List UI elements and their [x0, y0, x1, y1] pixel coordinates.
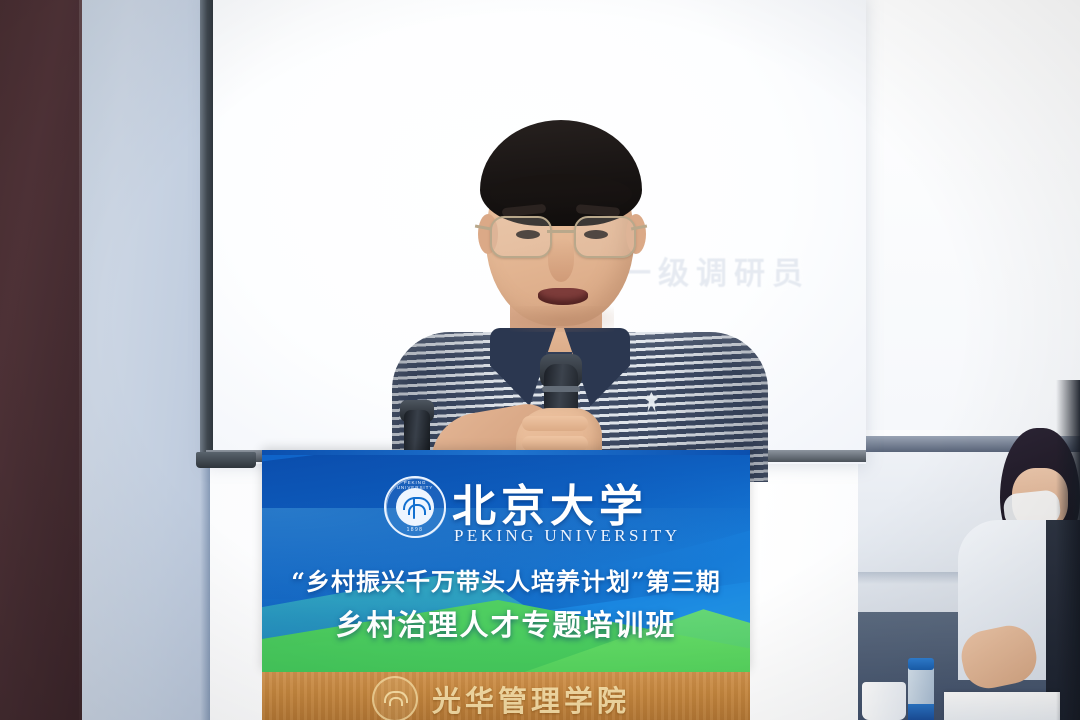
water-bottle-cap: [908, 658, 934, 670]
projection-screen-frame-left: [200, 0, 213, 462]
eyeglass-bridge: [547, 230, 575, 233]
wall-pillar: [82, 0, 210, 720]
peking-university-seal-icon: PEKING UNIVERSITY 1898: [384, 476, 446, 538]
eyeglass-lens-right: [574, 216, 636, 258]
speaker-mouth: [538, 288, 588, 305]
banner-headline-line2: 乡村治理人才专题培训班: [262, 602, 750, 644]
eyeglass-lens-left: [490, 216, 552, 258]
banner-headline-line1: “乡村振兴千万带头人培养计划”第三期: [262, 562, 750, 597]
water-bottle-label: [908, 704, 934, 720]
speaker-chin-shadow: [510, 306, 614, 332]
speaker-finger: [522, 416, 588, 431]
right-edge-shadow: [1056, 380, 1080, 720]
guanghua-seal-icon: [372, 676, 418, 720]
school-name-cn: 光华管理学院: [432, 678, 630, 720]
university-name-cn: 北京大学: [452, 470, 648, 534]
seal-emblem-stem: [413, 497, 415, 519]
projection-screen-foot: [196, 452, 256, 468]
podium-banner: PEKING UNIVERSITY 1898 北京大学 PEKING UNIVE…: [262, 450, 750, 672]
table-name-card: [944, 692, 1060, 720]
seal-year-text: 1898: [386, 527, 444, 533]
photo-scene: 一级调研员: [0, 0, 1080, 720]
university-name-en: PEKING UNIVERSITY: [454, 526, 680, 546]
banner-top-edge: [262, 450, 750, 455]
upper-right-wall: [866, 0, 1080, 430]
wood-wall-panel: [0, 0, 82, 720]
microphone-ring: [542, 386, 580, 392]
paper-cup: [862, 682, 906, 720]
wooden-podium: 光华管理学院: [262, 672, 750, 720]
seal-inner-emblem: [396, 488, 434, 526]
speaker-figure: [398, 110, 758, 470]
speaker-finger: [522, 436, 588, 451]
speaker-nose: [548, 238, 574, 282]
